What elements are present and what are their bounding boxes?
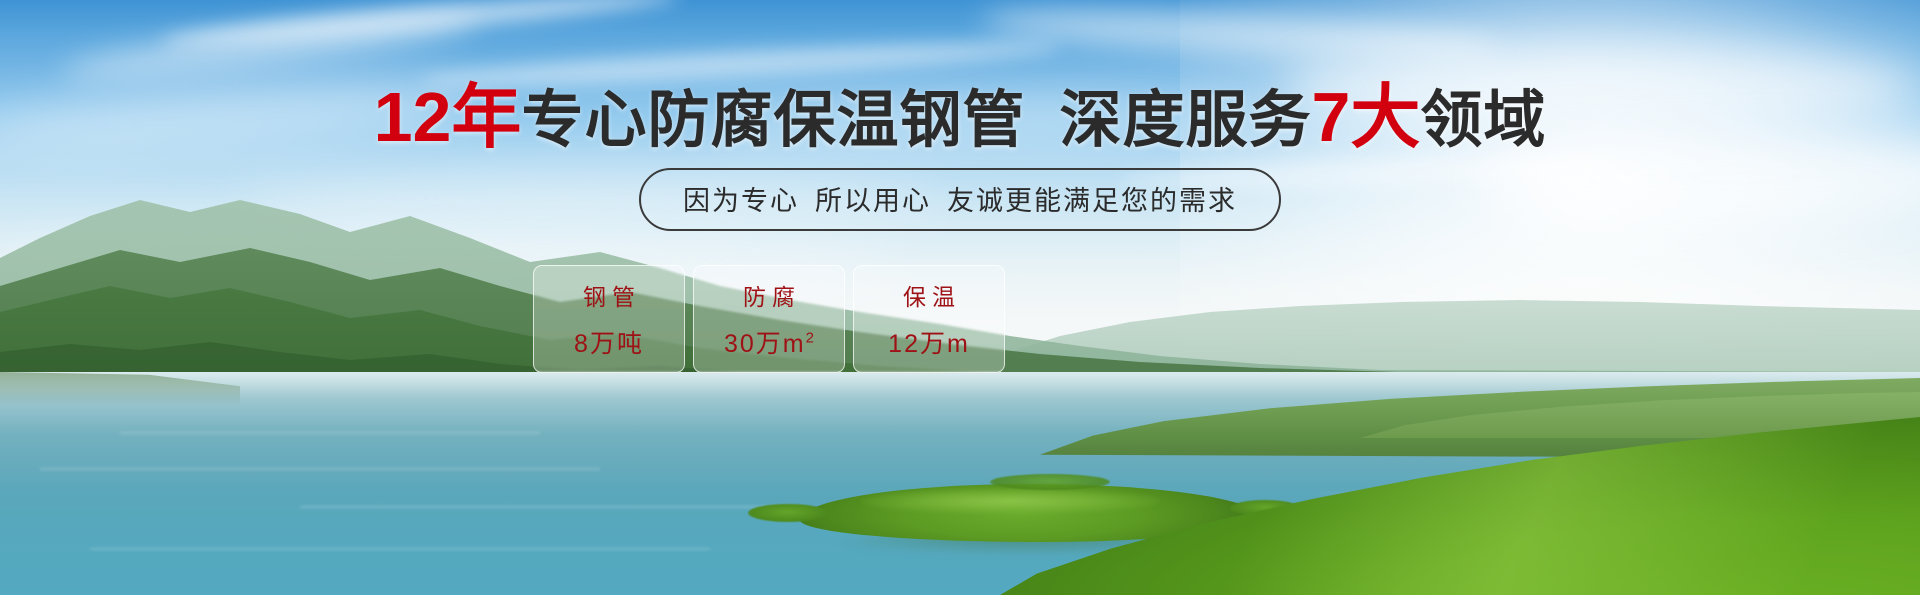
headline-main-text: 专心防腐保温钢管 [521,86,1025,155]
headline-fields-highlight: 7大 [1311,78,1420,156]
headline-service-text: 深度服务 [1059,86,1311,155]
stat-card-label: 保温 [897,278,961,312]
stat-card-label: 钢管 [577,278,641,312]
headline-fields-text: 领域 [1420,86,1546,155]
stat-card-insulation: 保温 12万m [853,265,1005,373]
stat-card-value-text: 8万吨 [574,330,644,358]
stat-card-value: 12万m [888,324,970,360]
subtitle-part-2: 所以用心 [815,186,931,216]
subtitle-part-1: 因为专心 [683,186,799,216]
stat-card-value: 30万m2 [724,324,814,360]
promotional-banner: 12年专心防腐保温钢管深度服务7大领域 因为专心所以用心友诚更能满足您的需求 钢… [0,0,1920,595]
stat-card-value: 8万吨 [574,324,644,360]
stat-card-value-text: 12万m [888,330,970,358]
headline-years-highlight: 12年 [374,78,522,156]
banner-headline: 12年专心防腐保温钢管深度服务7大领域 [0,82,1920,152]
stat-card-label: 防腐 [737,278,801,312]
stat-card-value-text: 30万m [724,330,806,358]
islet [748,504,828,522]
island-highlight [860,488,1160,514]
stat-card-anticorrosion: 防腐 30万m2 [693,265,845,373]
stat-card-value-superscript: 2 [806,330,814,347]
banner-subtitle-pill: 因为专心所以用心友诚更能满足您的需求 [639,168,1281,231]
stat-card-group: 钢管 8万吨 防腐 30万m2 保温 12万m [533,265,1005,373]
stat-card-steel-pipe: 钢管 8万吨 [533,265,685,373]
islet [990,474,1110,490]
subtitle-part-3: 友诚更能满足您的需求 [947,186,1237,216]
